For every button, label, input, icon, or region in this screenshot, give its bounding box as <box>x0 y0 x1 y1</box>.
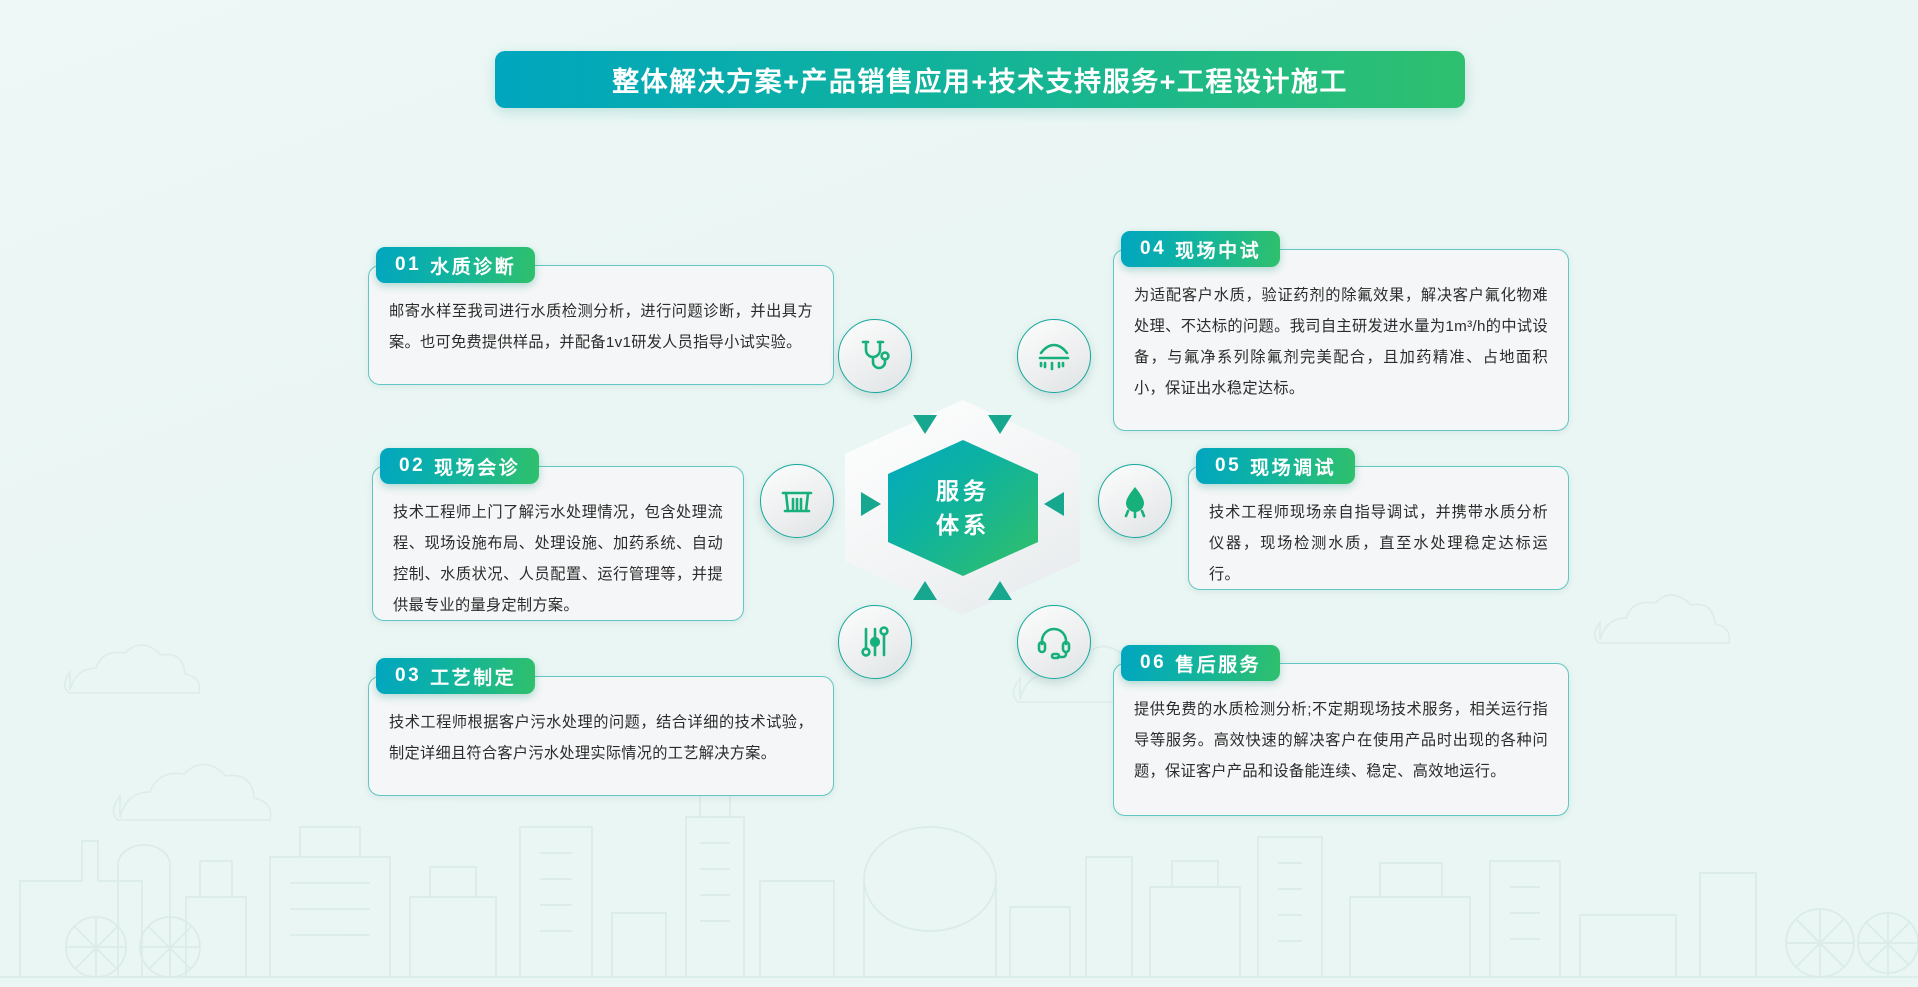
infographic-canvas: 整体解决方案+产品销售应用+技术支持服务+工程设计施工 邮寄水样至我司进行水质检… <box>0 0 1918 987</box>
card-03-text: 技术工程师根据客户污水处理的问题，结合详细的技术试验，制定详细且符合客户污水处理… <box>369 677 833 797</box>
card-06-text: 提供免费的水质检测分析;不定期现场技术服务，相关运行指导等服务。高效快速的解决客… <box>1114 664 1568 817</box>
sliders-icon <box>855 622 895 662</box>
center-hexagon: 服务 体系 <box>845 400 1080 615</box>
card-05-text: 技术工程师现场亲自指导调试，并携带水质分析仪器，现场检测水质，直至水处理稳定达标… <box>1189 467 1568 591</box>
card-04-text: 为适配客户水质，验证药剂的除氟效果，解决客户氟化物难处理、不达标的问题。我司自主… <box>1114 250 1568 432</box>
card-01-tab[interactable]: 01 水质诊断 <box>376 247 535 283</box>
card-02-tab[interactable]: 02 现场会诊 <box>380 448 539 484</box>
water-drop-test-icon <box>1115 481 1155 521</box>
icon-circle-water-filter[interactable] <box>1017 319 1091 393</box>
city-skyline-illustration <box>0 647 1918 987</box>
card-03-tab[interactable]: 03 工艺制定 <box>376 658 535 694</box>
water-filter-icon <box>1034 336 1074 376</box>
card-03-number: 03 <box>395 665 421 687</box>
icon-circle-water-drop-test[interactable] <box>1098 464 1172 538</box>
card-01-number: 01 <box>395 254 421 276</box>
card-04-number: 04 <box>1140 238 1166 260</box>
headset-icon <box>1034 622 1074 662</box>
card-06-label: 售后服务 <box>1175 650 1261 677</box>
icon-circle-sliders[interactable] <box>838 605 912 679</box>
card-02-number: 02 <box>399 455 425 477</box>
card-03-body: 技术工程师根据客户污水处理的问题，结合详细的技术试验，制定详细且符合客户污水处理… <box>368 676 834 796</box>
card-01-text: 邮寄水样至我司进行水质检测分析，进行问题诊断，并出具方案。也可免费提供样品，并配… <box>369 266 833 386</box>
card-05-number: 05 <box>1215 455 1241 477</box>
card-04-label: 现场中试 <box>1175 236 1261 263</box>
card-06-tab[interactable]: 06 售后服务 <box>1121 645 1280 681</box>
card-02-text: 技术工程师上门了解污水处理情况，包含处理流程、现场设施布局、处理设施、加药系统、… <box>373 467 743 622</box>
icon-circle-headset[interactable] <box>1017 605 1091 679</box>
card-06-number: 06 <box>1140 652 1166 674</box>
icon-circle-stethoscope[interactable] <box>838 319 912 393</box>
page-title-text: 整体解决方案+产品销售应用+技术支持服务+工程设计施工 <box>612 60 1348 99</box>
card-05-body: 技术工程师现场亲自指导调试，并携带水质分析仪器，现场检测水质，直至水处理稳定达标… <box>1188 466 1569 590</box>
card-05-tab[interactable]: 05 现场调试 <box>1196 448 1355 484</box>
card-02-body: 技术工程师上门了解污水处理情况，包含处理流程、现场设施布局、处理设施、加药系统、… <box>372 466 744 621</box>
lab-bench-icon <box>777 481 817 521</box>
card-04-tab[interactable]: 04 现场中试 <box>1121 231 1280 267</box>
card-03-label: 工艺制定 <box>430 663 516 690</box>
card-05-label: 现场调试 <box>1250 453 1336 480</box>
card-04-body: 为适配客户水质，验证药剂的除氟效果，解决客户氟化物难处理、不达标的问题。我司自主… <box>1113 249 1569 431</box>
icon-circle-lab-bench[interactable] <box>760 464 834 538</box>
card-02-label: 现场会诊 <box>434 453 520 480</box>
page-title: 整体解决方案+产品销售应用+技术支持服务+工程设计施工 <box>495 51 1465 108</box>
stethoscope-icon <box>855 336 895 376</box>
card-06-body: 提供免费的水质检测分析;不定期现场技术服务，相关运行指导等服务。高效快速的解决客… <box>1113 663 1569 816</box>
card-01-label: 水质诊断 <box>430 252 516 279</box>
hexagon-arrows <box>845 400 1080 615</box>
card-01-body: 邮寄水样至我司进行水质检测分析，进行问题诊断，并出具方案。也可免费提供样品，并配… <box>368 265 834 385</box>
